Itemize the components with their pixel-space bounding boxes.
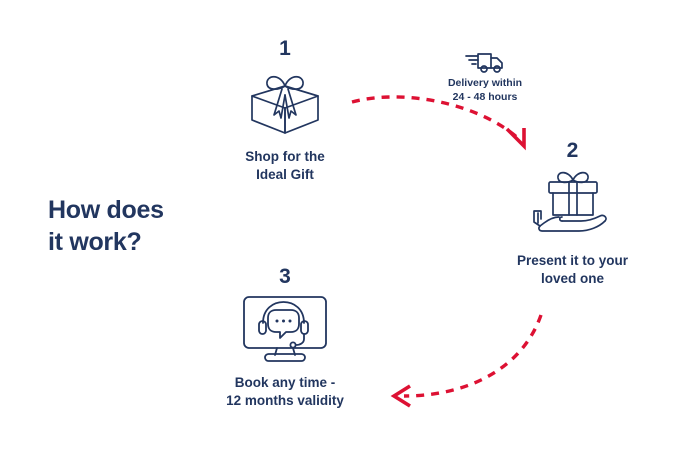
step-1-number: 1 bbox=[205, 38, 365, 59]
step-2: 2 Present bbox=[495, 140, 650, 288]
step-1-label: Shop for the Ideal Gift bbox=[205, 148, 365, 184]
step-3: 3 bbox=[200, 266, 370, 410]
page-title: How does it work? bbox=[48, 194, 228, 258]
gift-on-hand-icon bbox=[495, 167, 650, 241]
step-2-label: Present it to your loved one bbox=[495, 252, 650, 288]
gift-box-icon bbox=[205, 65, 365, 137]
arrow-step2-to-step3 bbox=[394, 315, 541, 406]
step-2-number: 2 bbox=[495, 140, 650, 161]
step-1: 1 Shop for the Ideal Gift bbox=[205, 38, 365, 184]
infographic-canvas: How does it work? 1 Shop for the Id bbox=[0, 0, 700, 457]
monitor-support-icon bbox=[200, 293, 370, 363]
delivery-note: Delivery within 24 - 48 hours bbox=[428, 52, 542, 104]
delivery-truck-icon bbox=[428, 52, 542, 74]
step-3-number: 3 bbox=[200, 266, 370, 287]
delivery-text: Delivery within 24 - 48 hours bbox=[428, 77, 542, 104]
step-3-label: Book any time - 12 months validity bbox=[200, 374, 370, 410]
arrow-step1-to-step2 bbox=[352, 97, 524, 146]
